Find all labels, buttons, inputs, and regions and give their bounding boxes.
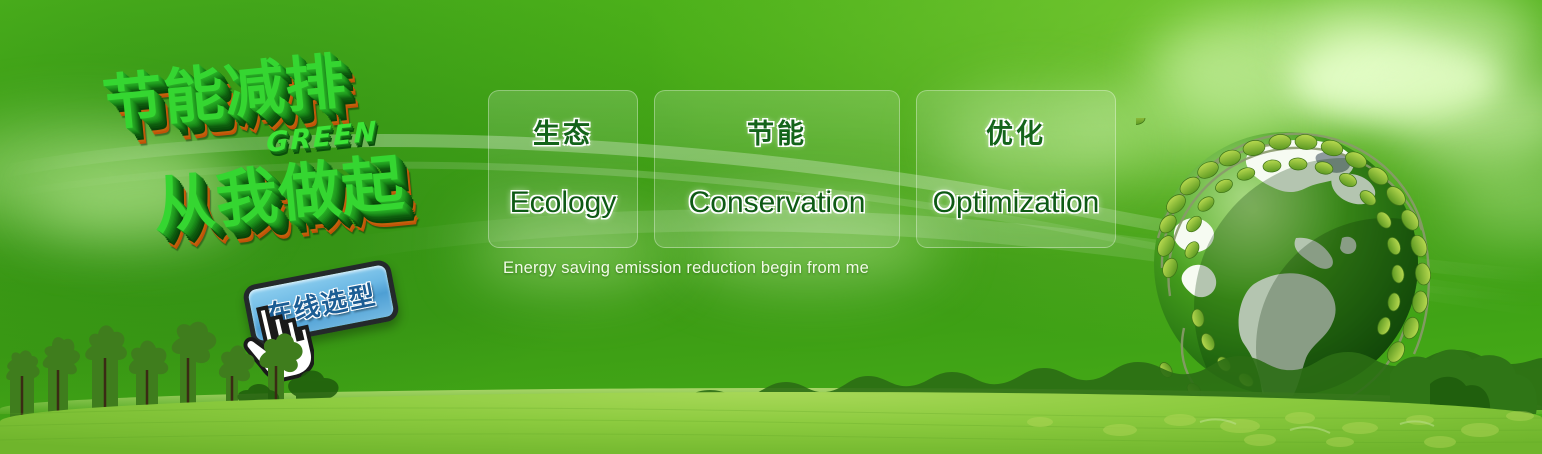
feature-card-title-cn: 节能 (747, 121, 807, 148)
feature-card-title-cn: 优化 (986, 121, 1046, 148)
feature-card-ecology[interactable]: 生态 Ecology (488, 90, 638, 248)
feature-card-title-en: Conservation (689, 188, 866, 218)
feature-card-list: 生态 Ecology 节能 Conservation 优化 Optimizati… (488, 90, 1116, 248)
headline-3d: 节能减排 GREEN 从我做起 (96, 38, 496, 273)
eco-hero-banner: 节能减排 GREEN 从我做起 在线选型 生态 Ecology 节能 Conse… (0, 0, 1542, 454)
cloud-shape (1300, 0, 1540, 90)
globe-graphic (1136, 118, 1448, 434)
feature-card-title-en: Ecology (510, 188, 617, 218)
eco-globe (1136, 118, 1448, 434)
pointing-hand-cursor-icon (240, 298, 314, 384)
feature-card-title-en: Optimization (933, 188, 1100, 218)
online-selection-cta[interactable]: 在线选型 (246, 272, 426, 382)
feature-card-optimization[interactable]: 优化 Optimization (916, 90, 1116, 248)
banner-tagline: Energy saving emission reduction begin f… (503, 259, 869, 278)
cloud-shape (1290, 40, 1500, 120)
feature-card-title-cn: 生态 (533, 121, 593, 148)
grass-texture (0, 392, 1542, 454)
cloud-shape (1150, 10, 1420, 130)
cloud-shape (1440, 160, 1542, 240)
feature-card-conservation[interactable]: 节能 Conservation (654, 90, 900, 248)
headline-line-2: 从我做起 (148, 132, 407, 246)
